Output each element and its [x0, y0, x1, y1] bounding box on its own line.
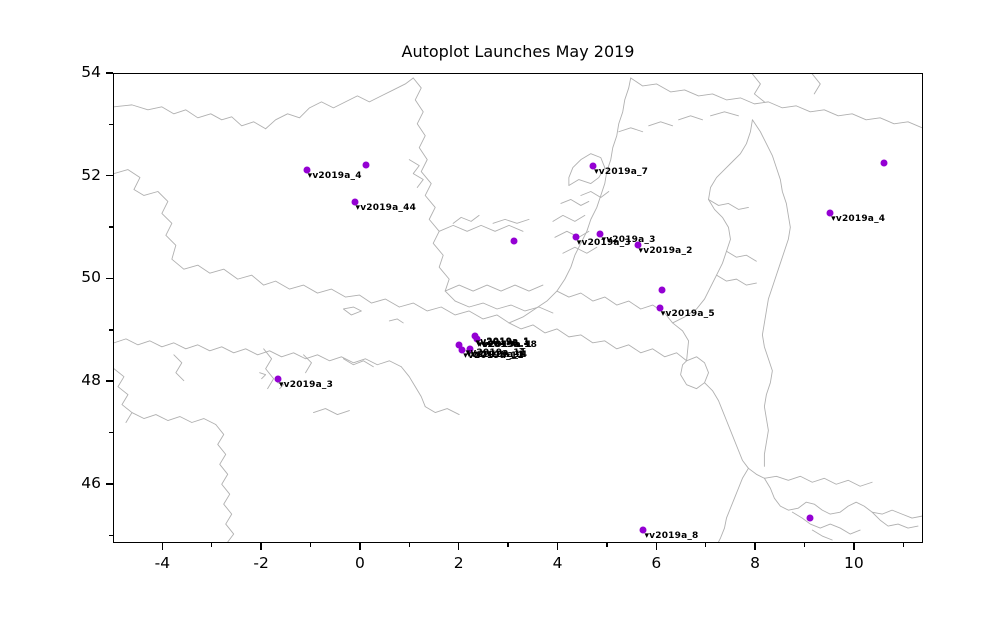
point-label: ▾v2019a_8	[644, 531, 698, 541]
y-tick-label: 54	[53, 63, 101, 81]
tick-mark	[606, 543, 607, 547]
tick-mark	[106, 175, 113, 176]
y-tick-label: 46	[53, 474, 101, 492]
plot-area: ▾v2019a_4▾v2019a_44▾v2019a_7▾v2019a_4▾v2…	[113, 73, 923, 543]
point-label: ▾v2019a_44	[356, 203, 417, 213]
tick-mark	[106, 380, 113, 381]
tick-mark	[310, 543, 311, 547]
point-label: ▾v2019a_4	[308, 171, 362, 181]
tick-mark	[211, 543, 212, 547]
point-label: ▾v2019a_14	[467, 350, 528, 360]
tick-mark	[106, 278, 113, 279]
point-label: ▾v2019a_4	[831, 214, 885, 224]
x-tick-label: -2	[231, 554, 291, 572]
y-tick-label: 48	[53, 371, 101, 389]
tick-mark	[409, 543, 410, 547]
tick-mark	[804, 543, 805, 547]
tick-mark	[106, 72, 113, 73]
tick-mark	[507, 543, 508, 547]
map-coastlines	[114, 74, 922, 542]
tick-mark	[106, 483, 113, 484]
tick-mark	[109, 329, 113, 330]
page-title: Autoplot Launches May 2019	[113, 42, 923, 61]
y-tick-label: 52	[53, 166, 101, 184]
scatter-point[interactable]	[362, 162, 369, 169]
tick-mark	[109, 535, 113, 536]
x-tick-label: 8	[725, 554, 785, 572]
x-tick-label: -4	[132, 554, 192, 572]
tick-mark	[656, 543, 657, 550]
x-tick-label: 2	[429, 554, 489, 572]
scatter-point[interactable]	[511, 237, 518, 244]
tick-mark	[458, 543, 459, 550]
tick-mark	[109, 432, 113, 433]
x-tick-label: 6	[626, 554, 686, 572]
tick-mark	[109, 124, 113, 125]
point-label: ▾v2019a_2	[639, 246, 693, 256]
figure-canvas: Autoplot Launches May 2019	[0, 0, 1003, 633]
x-tick-label: 10	[824, 554, 884, 572]
scatter-point[interactable]	[881, 159, 888, 166]
point-label: ▾v2019a_7	[594, 167, 648, 177]
tick-mark	[162, 543, 163, 550]
point-label: ▾v2019a_5	[661, 309, 715, 319]
scatter-point[interactable]	[659, 286, 666, 293]
x-tick-label: 4	[528, 554, 588, 572]
tick-mark	[557, 543, 558, 550]
point-label: ▾v2019a_3	[279, 380, 333, 390]
point-label: ▾v2019a_3	[601, 235, 655, 245]
tick-mark	[359, 543, 360, 550]
tick-mark	[260, 543, 261, 550]
tick-mark	[853, 543, 854, 550]
tick-mark	[754, 543, 755, 550]
tick-mark	[903, 543, 904, 547]
tick-mark	[705, 543, 706, 547]
y-tick-label: 50	[53, 268, 101, 286]
x-tick-label: 0	[330, 554, 390, 572]
scatter-point[interactable]	[807, 515, 814, 522]
tick-mark	[109, 226, 113, 227]
